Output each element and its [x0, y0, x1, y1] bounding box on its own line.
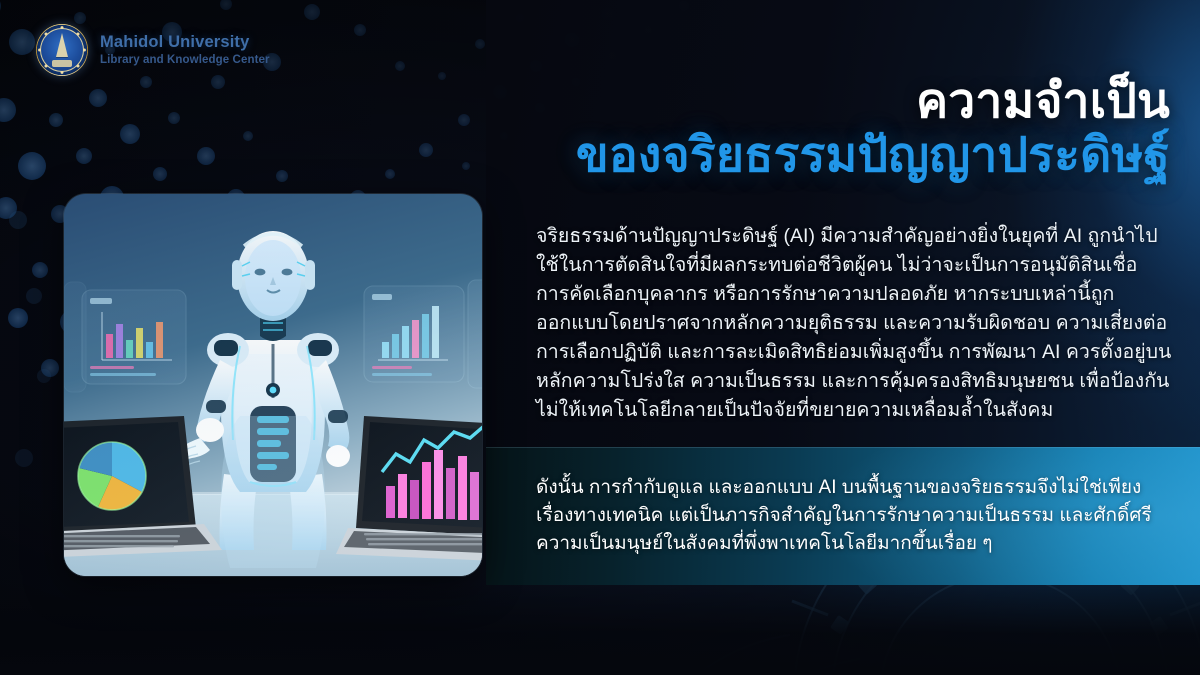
body-text-block: จริยธรรมด้านปัญญาประดิษฐ์ (AI) มีความสำค…	[536, 222, 1174, 425]
title-line-1: ความจำเป็น	[510, 78, 1170, 127]
title-line-2: ของจริยธรรมปัญญาประดิษฐ์	[510, 131, 1170, 181]
brand-university-name: Mahidol University	[100, 33, 270, 51]
ai-robot-illustration	[64, 194, 482, 576]
mahidol-crest-icon	[36, 24, 88, 76]
brand-lockup: Mahidol University Library and Knowledge…	[36, 24, 270, 76]
page-title: ความจำเป็น ของจริยธรรมปัญญาประดิษฐ์	[510, 78, 1170, 181]
slide-canvas: Mahidol University Library and Knowledge…	[0, 0, 1200, 675]
body-paragraph: จริยธรรมด้านปัญญาประดิษฐ์ (AI) มีความสำค…	[536, 222, 1174, 425]
brand-text-block: Mahidol University Library and Knowledge…	[100, 33, 270, 66]
crest-pips-icon	[36, 24, 88, 76]
conclusion-paragraph: ดังนั้น การกำกับดูแล และออกแบบ AI บนพื้น…	[536, 474, 1174, 558]
conclusion-panel: ดังนั้น การกำกับดูแล และออกแบบ AI บนพื้น…	[486, 447, 1200, 585]
ai-robot-photo-card	[64, 194, 482, 576]
conclusion-text-block: ดังนั้น การกำกับดูแล และออกแบบ AI บนพื้น…	[536, 474, 1174, 558]
brand-unit-name: Library and Knowledge Center	[100, 54, 270, 67]
